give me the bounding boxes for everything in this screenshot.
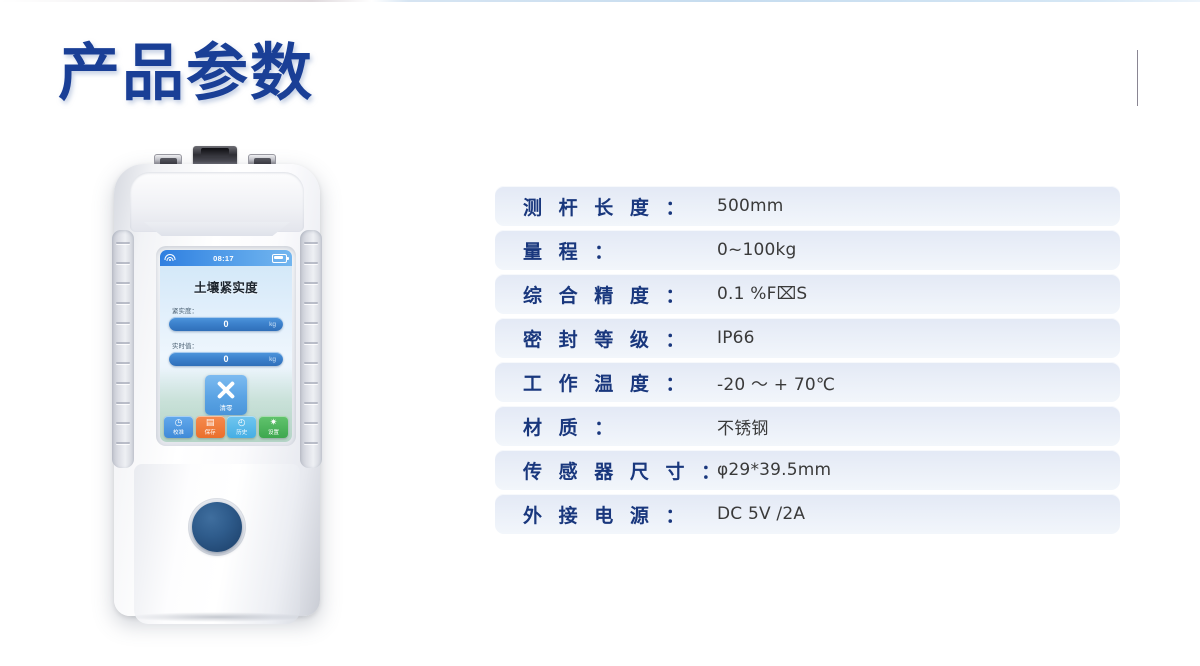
device-shell: 08:17 土壤紧实度 紧实度： 0 kg 实时值： — [114, 164, 320, 616]
save-button[interactable]: ▤ 保存 — [196, 416, 225, 438]
device-shadow — [126, 612, 308, 622]
clear-zero-label: 清零 — [220, 402, 233, 412]
calibrate-label: 校准 — [173, 428, 184, 436]
table-row: 测 杆 长 度 ： 500mm — [495, 186, 1120, 226]
field-compaction-unit: kg — [269, 321, 276, 328]
field-compaction: 紧实度： 0 kg — [169, 305, 283, 331]
device-grip-right — [300, 230, 322, 468]
table-row: 材 质 ： 不锈钢 — [495, 406, 1120, 446]
device-lower-face — [134, 464, 300, 624]
field-realtime-unit: kg — [269, 356, 276, 363]
close-x-icon — [215, 379, 237, 401]
spec-value: φ29*39.5mm — [717, 460, 831, 480]
device-screen: 08:17 土壤紧实度 紧实度： 0 kg 实时值： — [160, 250, 292, 442]
spec-label: 密 封 等 级 ： — [495, 325, 717, 352]
table-row: 工 作 温 度 ： -20 ～ + 70℃ — [495, 362, 1120, 402]
screen-button-row: ◷ 校准 ▤ 保存 ◴ 历史 ✷ 设置 — [164, 416, 288, 438]
save-icon: ▤ — [206, 418, 215, 427]
settings-label: 设置 — [268, 428, 279, 436]
spec-value: IP66 — [717, 328, 755, 348]
field-compaction-value: 0 — [223, 319, 228, 329]
table-row: 量 程 ： 0~100kg — [495, 230, 1120, 270]
spec-value: -20 ～ + 70℃ — [717, 370, 835, 395]
spec-label: 测 杆 长 度 ： — [495, 193, 717, 220]
device-illustration: 08:17 土壤紧实度 紧实度： 0 kg 实时值： — [108, 146, 326, 618]
device-top-plate — [130, 172, 304, 232]
spec-value: 0.1 %F⌧S — [717, 284, 807, 304]
statusbar-time: 08:17 — [175, 254, 272, 263]
spec-label: 外 接 电 源 ： — [495, 501, 717, 528]
history-icon: ◴ — [238, 418, 246, 427]
field-realtime-label: 实时值： — [172, 340, 283, 350]
battery-icon — [272, 254, 287, 263]
spec-label: 综 合 精 度 ： — [495, 281, 717, 308]
device-screen-bezel: 08:17 土壤紧实度 紧实度： 0 kg 实时值： — [156, 246, 296, 446]
field-compaction-label: 紧实度： — [172, 305, 283, 315]
spec-value: DC 5V /2A — [717, 504, 805, 524]
calibrate-icon: ◷ — [175, 418, 183, 427]
spec-value: 0~100kg — [717, 240, 797, 260]
table-row: 传 感 器 尺 寸 ： φ29*39.5mm — [495, 450, 1120, 490]
field-realtime-value-pill: 0 kg — [169, 352, 283, 366]
history-button[interactable]: ◴ 历史 — [227, 416, 256, 438]
calibrate-button[interactable]: ◷ 校准 — [164, 416, 193, 438]
field-realtime: 实时值： 0 kg — [169, 340, 283, 366]
top-accent-line — [0, 0, 1200, 2]
table-row: 综 合 精 度 ： 0.1 %F⌧S — [495, 274, 1120, 314]
settings-button[interactable]: ✷ 设置 — [259, 416, 288, 438]
spec-label: 传 感 器 尺 寸 ： — [495, 457, 717, 484]
device-grip-left — [112, 230, 134, 468]
gear-icon: ✷ — [270, 418, 278, 427]
power-button[interactable] — [192, 502, 242, 552]
table-row: 密 封 等 级 ： IP66 — [495, 318, 1120, 358]
spec-value: 500mm — [717, 196, 784, 216]
title-divider-rule — [1137, 50, 1138, 106]
screen-title: 土壤紧实度 — [160, 277, 292, 296]
spec-value: 不锈钢 — [717, 414, 769, 439]
field-compaction-value-pill: 0 kg — [169, 317, 283, 331]
history-label: 历史 — [236, 428, 247, 436]
screen-statusbar: 08:17 — [160, 250, 292, 266]
page-title: 产品参数 — [58, 42, 314, 104]
product-spec-page: 产品参数 — [0, 0, 1200, 666]
spec-label: 材 质 ： — [495, 413, 717, 440]
field-realtime-value: 0 — [223, 354, 228, 364]
spec-label: 量 程 ： — [495, 237, 717, 264]
spec-table: 测 杆 长 度 ： 500mm 量 程 ： 0~100kg 综 合 精 度 ： … — [495, 186, 1120, 538]
spec-label: 工 作 温 度 ： — [495, 369, 717, 396]
save-label: 保存 — [205, 428, 216, 436]
clear-zero-button[interactable]: 清零 — [205, 375, 247, 415]
wifi-icon — [165, 254, 175, 263]
table-row: 外 接 电 源 ： DC 5V /2A — [495, 494, 1120, 534]
page-title-wrap: 产品参数 — [58, 42, 314, 104]
